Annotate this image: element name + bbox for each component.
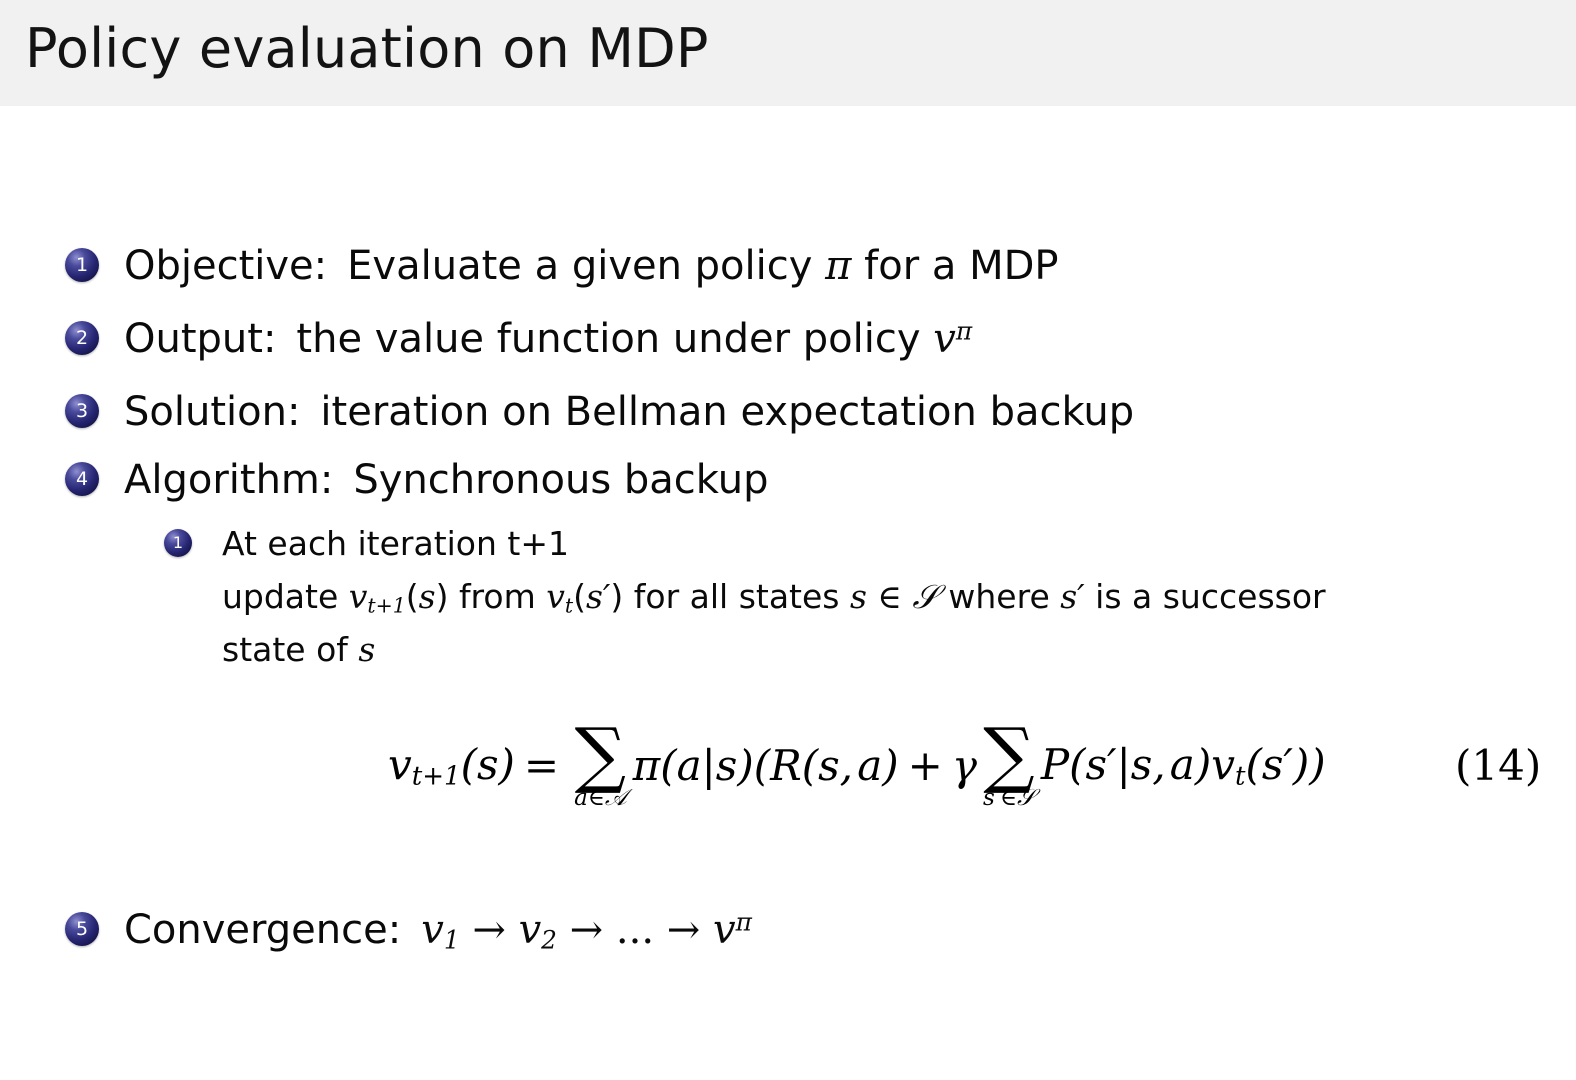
item-5-text: Convergence: v1 → v2 → ... → vπ [124, 907, 752, 953]
enumerate-bullet-1: 1 [65, 248, 99, 282]
sigma-lower-limit-a: a∈𝒜 [574, 787, 627, 810]
list-item-convergence: Convergence: v1 → v2 → ... → vπ [124, 910, 752, 953]
display-equation-row: vt+1(s) = ∑ a∈𝒜 π(a|s)(R(s, a) + γ ∑ s′∈… [0, 698, 1576, 833]
plus-sign: + [899, 741, 952, 790]
sigma-glyph: ∑ [575, 725, 626, 784]
subitem-line-2-text: update vt+1(s) from vt(s′) for all state… [222, 577, 1326, 616]
enumerate-subbullet-1: 1 [164, 529, 192, 557]
enumerate-bullet-4: 4 [65, 462, 99, 496]
enumerate-bullet-3: 3 [65, 394, 99, 428]
list-item-objective: Objective: Evaluate a given policy π for… [124, 246, 1059, 286]
equation-number: (14) [1455, 698, 1541, 833]
equals-sign: = [515, 741, 568, 790]
pi-superscript: π [956, 317, 972, 346]
equation-policy-term: π(a|s)(R(s, a) [633, 741, 899, 790]
subitem-line-3-text: state of s [222, 630, 375, 669]
subitem-line-2: update vt+1(s) from vt(s′) for all state… [222, 580, 1326, 616]
sigma-lower-limit-s: s′∈𝒮 [983, 787, 1035, 810]
pi-symbol: π [825, 243, 851, 289]
list-item-solution: Solution: iteration on Bellman expectati… [124, 392, 1134, 432]
subitem-line-1: At each iteration t+1 [222, 527, 569, 560]
item-1-text: Objective: Evaluate a given policy π for… [124, 243, 1059, 289]
subitem-line-3: state of s [222, 633, 375, 666]
equation-transition-term: P(s′|s, a)vt(s′)) [1041, 740, 1326, 792]
v-symbol: v [933, 316, 956, 362]
enumerate-bullet-2: 2 [65, 321, 99, 355]
slide-body: 1 Objective: Evaluate a given policy π f… [0, 106, 1576, 1080]
frame-header: Policy evaluation on MDP [0, 0, 1576, 106]
equation-lhs: vt+1(s) [388, 740, 515, 792]
summation-over-actions: ∑ a∈𝒜 [574, 725, 627, 809]
sigma-glyph: ∑ [983, 725, 1034, 784]
list-item-output: Output: the value function under policy … [124, 319, 972, 359]
display-equation: vt+1(s) = ∑ a∈𝒜 π(a|s)(R(s, a) + γ ∑ s′∈… [388, 698, 1326, 833]
gamma-symbol: γ [952, 741, 977, 790]
enumerate-bullet-5: 5 [65, 912, 99, 946]
page-title: Policy evaluation on MDP [25, 22, 709, 76]
list-item-algorithm: Algorithm: Synchronous backup [124, 460, 768, 500]
item-2-text: Output: the value function under policy … [124, 316, 972, 362]
summation-over-states: ∑ s′∈𝒮 [983, 725, 1035, 809]
